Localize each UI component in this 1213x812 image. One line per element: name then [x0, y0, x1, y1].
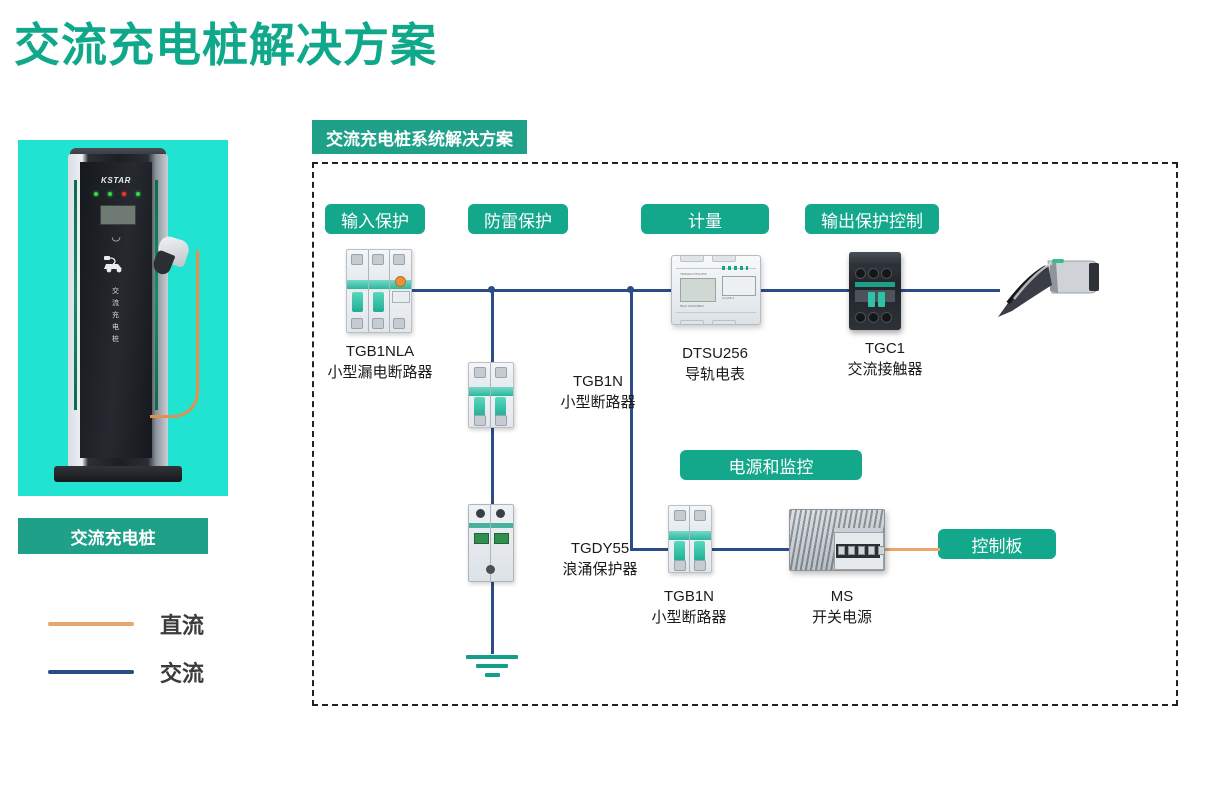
- caption-tgdy55: TGDY55 浪涌保护器: [530, 538, 670, 580]
- product-photo: KSTAR ◡ 交流充电桩: [18, 140, 228, 496]
- pillar-base: [54, 466, 182, 482]
- product-caption: 交流充电桩: [18, 518, 208, 554]
- wire-junction-spd: [488, 286, 495, 293]
- wire-ac-contactor-to-gun: [900, 289, 1000, 292]
- charging-gun-connector: [990, 255, 1102, 325]
- rfid-icon: ◡: [80, 230, 152, 243]
- led-indicator: [136, 192, 140, 196]
- caption-cn: 交流接触器: [815, 359, 955, 380]
- device-tgb1nla-rcbo: [346, 249, 412, 333]
- caption-tgc1: TGC1 交流接触器: [815, 338, 955, 380]
- legend-item-dc: 直流: [48, 600, 204, 648]
- device-tgc1-contactor: [849, 252, 901, 330]
- caption-model: MS: [772, 586, 912, 607]
- led-indicator: [108, 192, 112, 196]
- device-dtsu256-meter: TENGEN DTSU256 CLASS 1 50Hz 3x220/380V: [671, 255, 761, 325]
- device-tgb1n-breaker-upper: [468, 362, 514, 428]
- pillar-stripe-left: [74, 180, 77, 410]
- wire-ac-psu-branch-vertical: [630, 289, 633, 550]
- section-tag-metering: 计量: [641, 204, 769, 234]
- caption-cn: 小型断路器: [528, 392, 668, 413]
- wire-dc-psu-to-control-board: [880, 548, 940, 551]
- section-tag-input-protection: 输入保护: [325, 204, 425, 234]
- caption-model: TGC1: [815, 338, 955, 359]
- caption-tgb1nla: TGB1NLA 小型漏电断路器: [300, 341, 460, 383]
- product-vertical-text: 交流充电桩: [80, 286, 152, 346]
- pillar-face: KSTAR ◡ 交流充电桩: [80, 162, 152, 458]
- caption-model: TGB1NLA: [300, 341, 460, 362]
- legend-line-ac: [48, 670, 134, 674]
- wire-ac-spd-branch-upper: [491, 289, 494, 364]
- device-tgdy55-surge-protector: [468, 504, 514, 582]
- device-tgb1n-breaker-lower: [668, 505, 712, 573]
- diagram-title-banner: 交流充电桩系统解决方案: [312, 120, 527, 154]
- page-title: 交流充电桩解决方案: [14, 20, 437, 71]
- caption-model: DTSU256: [645, 343, 785, 364]
- legend-item-ac: 交流: [48, 648, 204, 696]
- section-tag-control-board: 控制板: [938, 529, 1056, 559]
- wire-junction-psu: [627, 286, 634, 293]
- legend-label-dc: 直流: [160, 608, 204, 640]
- caption-dtsu256: DTSU256 导轨电表: [645, 343, 785, 385]
- caption-cn: 开关电源: [772, 607, 912, 628]
- brand-logo: KSTAR: [80, 176, 152, 185]
- wire-ac-breaker-to-psu: [704, 548, 792, 551]
- caption-cn: 小型断路器: [619, 607, 759, 628]
- led-indicator: [94, 192, 98, 196]
- lcd-display: [100, 205, 136, 225]
- section-tag-power-and-monitoring: 电源和监控: [680, 450, 862, 480]
- wire-ac-meter-to-contactor: [758, 289, 862, 292]
- ev-charging-icon: [100, 254, 134, 274]
- caption-tgb1n-lower: TGB1N 小型断路器: [619, 586, 759, 628]
- led-indicator: [122, 192, 126, 196]
- caption-ms-psu: MS 开关电源: [772, 586, 912, 628]
- wire-ac-spd-branch-to-ground: [491, 578, 494, 654]
- wire-ac-spd-branch-mid: [491, 425, 494, 505]
- caption-model: TGB1N: [619, 586, 759, 607]
- legend-label-ac: 交流: [160, 656, 204, 688]
- caption-model: TGDY55: [530, 538, 670, 559]
- wire-ac-main-bus-left: [410, 289, 694, 292]
- caption-cn: 浪涌保护器: [530, 559, 670, 580]
- caption-cn: 小型漏电断路器: [300, 362, 460, 383]
- caption-cn: 导轨电表: [645, 364, 785, 385]
- charging-cable: [150, 250, 199, 418]
- status-led-group: [94, 192, 140, 196]
- legend-line-dc: [48, 622, 134, 626]
- section-tag-output-protection-control: 输出保护控制: [805, 204, 939, 234]
- section-tag-lightning-protection: 防雷保护: [468, 204, 568, 234]
- legend: 直流 交流: [48, 600, 204, 696]
- device-ms-power-supply: [789, 509, 885, 571]
